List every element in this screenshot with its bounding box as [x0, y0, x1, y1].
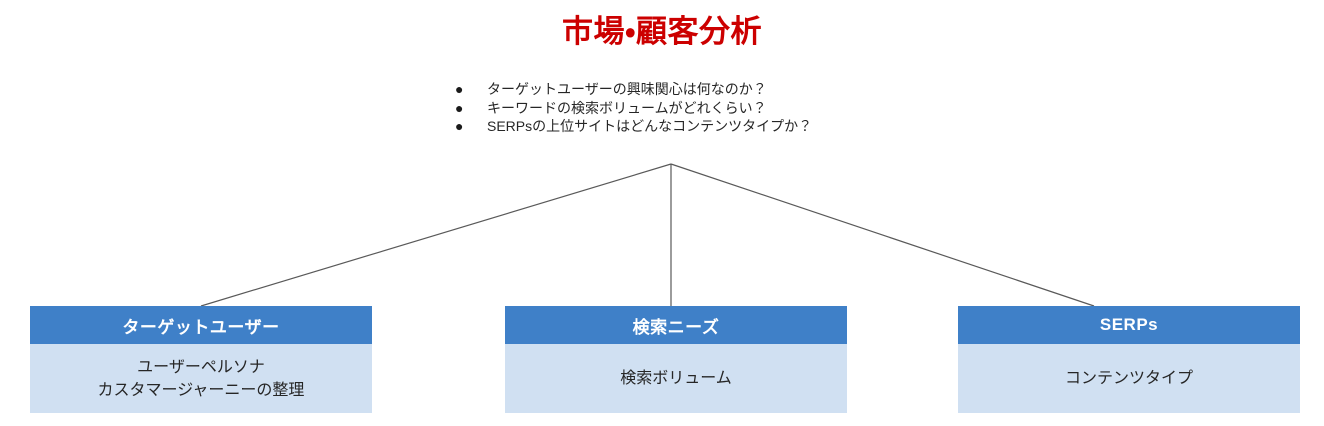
node-header-target-user: ターゲットユーザー	[30, 306, 372, 344]
node-serps[interactable]: SERPs コンテンツタイプ	[958, 306, 1300, 413]
node-body-serps: コンテンツタイプ	[958, 344, 1300, 413]
node-search-needs[interactable]: 検索ニーズ 検索ボリューム	[505, 306, 847, 413]
connector-line-right	[671, 164, 1094, 306]
bullet-icon: ●	[455, 80, 465, 99]
bullet-icon: ●	[455, 99, 465, 118]
node-target-user[interactable]: ターゲットユーザー ユーザーペルソナ カスタマージャーニーの整理	[30, 306, 372, 413]
list-item: ● ターゲットユーザーの興味関心は何なのか？	[455, 80, 812, 99]
page-title: 市場・顧客分析	[0, 14, 1324, 50]
list-item-label: ターゲットユーザーの興味関心は何なのか？	[487, 81, 767, 97]
list-item-label: SERPsの上位サイトはどんなコンテンツタイプか？	[487, 118, 812, 134]
connector-line-left	[201, 164, 671, 306]
node-body-search-needs: 検索ボリューム	[505, 344, 847, 413]
node-header-serps: SERPs	[958, 306, 1300, 344]
node-header-search-needs: 検索ニーズ	[505, 306, 847, 344]
question-bullet-list: ● ターゲットユーザーの興味関心は何なのか？ ● キーワードの検索ボリュームがど…	[455, 80, 812, 136]
list-item: ● SERPsの上位サイトはどんなコンテンツタイプか？	[455, 117, 812, 136]
node-body-target-user: ユーザーペルソナ カスタマージャーニーの整理	[30, 344, 372, 413]
list-item: ● キーワードの検索ボリュームがどれくらい？	[455, 99, 812, 118]
bullet-icon: ●	[455, 117, 465, 136]
list-item-label: キーワードの検索ボリュームがどれくらい？	[487, 100, 767, 116]
